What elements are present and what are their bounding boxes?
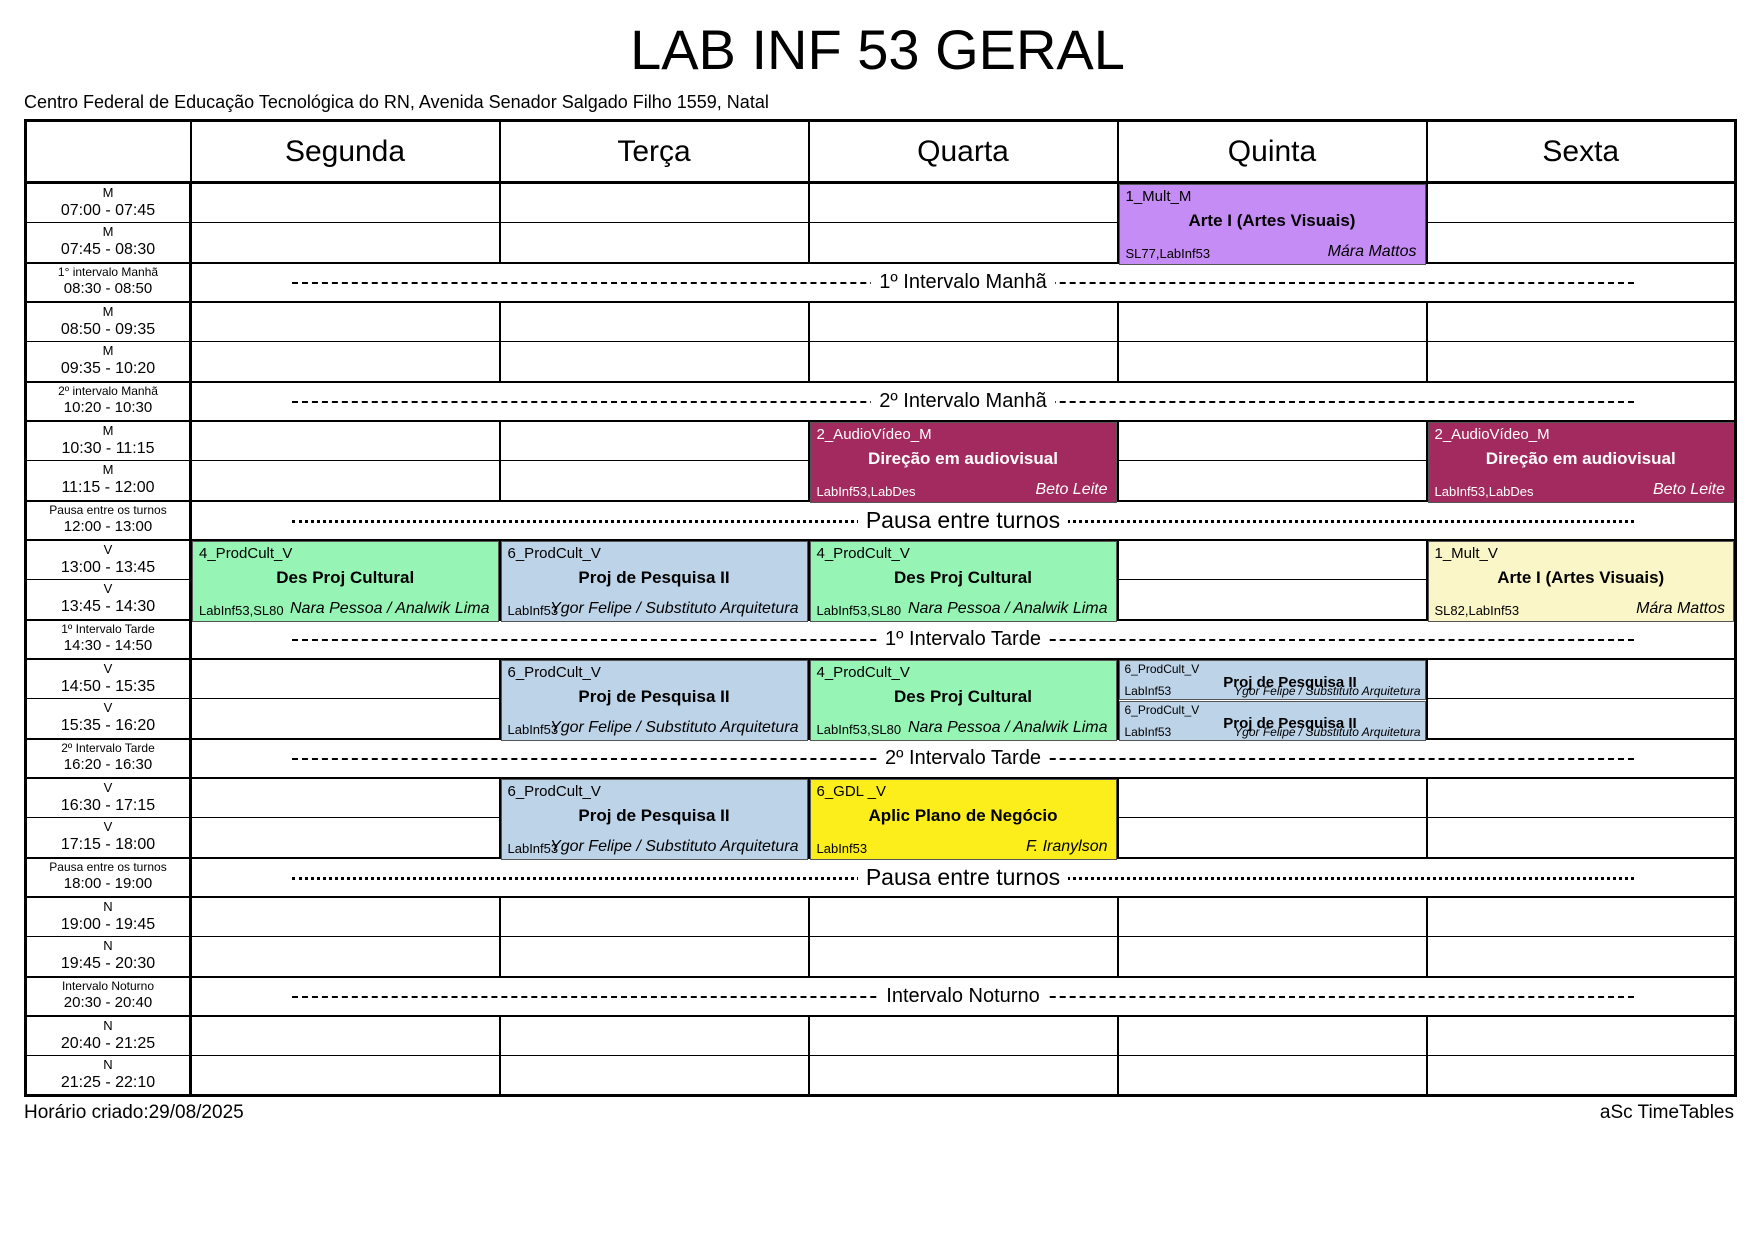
schedule-cell[interactable]	[1118, 937, 1427, 977]
time-range: 15:35 - 16:20	[27, 716, 189, 736]
time-range: 08:30 - 08:50	[27, 280, 189, 299]
page-title: LAB INF 53 GERAL	[0, 0, 1755, 78]
lesson-block[interactable]: 2_AudioVídeo_MDireção em audiovisualLabI…	[1428, 422, 1735, 503]
time-range: 16:30 - 17:15	[27, 796, 189, 816]
schedule-cell[interactable]	[1427, 659, 1736, 699]
break-row: Pausa entre os turnos12:00 - 13:00Pausa …	[26, 501, 1736, 540]
lesson-teacher: Mára Mattos	[1328, 243, 1417, 261]
lesson-block[interactable]: 1_Mult_MArte I (Artes Visuais)SL77,LabIn…	[1119, 184, 1426, 265]
time-label: V	[27, 661, 189, 677]
lesson-class-code: 2_AudioVídeo_M	[817, 426, 932, 443]
schedule-cell[interactable]	[1427, 1056, 1736, 1096]
time-range: 12:00 - 13:00	[27, 518, 189, 537]
lesson-subject: Arte I (Artes Visuais)	[1429, 568, 1734, 588]
lesson-class-code: 1_Mult_V	[1435, 545, 1498, 562]
time-cell: 1º Intervalo Tarde14:30 - 14:50	[26, 620, 191, 659]
lesson-class-code: 4_ProdCult_V	[817, 664, 910, 681]
break-row: Pausa entre os turnos18:00 - 19:00Pausa …	[26, 858, 1736, 897]
time-label: N	[27, 1018, 189, 1034]
schedule-cell[interactable]	[809, 183, 1118, 223]
timetable: Segunda Terça Quarta Quinta Sexta M07:00…	[24, 119, 1737, 1097]
timetable-body: M07:00 - 07:451_Mult_MArte I (Artes Visu…	[26, 183, 1736, 1096]
schedule-cell[interactable]	[1427, 183, 1736, 223]
schedule-cell[interactable]	[191, 183, 500, 223]
footer: Horário criado:29/08/2025 aSc TimeTables	[24, 1097, 1734, 1124]
schedule-cell[interactable]	[191, 1016, 500, 1056]
schedule-cell[interactable]: 2_AudioVídeo_MDireção em audiovisualLabI…	[809, 421, 1118, 461]
schedule-cell[interactable]	[809, 1016, 1118, 1056]
time-label: N	[27, 1057, 189, 1073]
schedule-cell[interactable]	[500, 223, 809, 263]
lesson-room: LabInf53,LabDes	[817, 484, 916, 499]
schedule-cell[interactable]	[809, 223, 1118, 263]
schedule-cell[interactable]	[809, 302, 1118, 342]
schedule-cell[interactable]	[1427, 1016, 1736, 1056]
time-label: Pausa entre os turnos	[27, 503, 189, 518]
lesson-teacher: Nara Pessoa / Analwik Lima	[908, 600, 1108, 618]
lesson-teacher: Beto Leite	[1035, 481, 1107, 499]
schedule-cell[interactable]	[1427, 778, 1736, 818]
schedule-cell[interactable]	[1427, 223, 1736, 263]
lesson-room: LabInf53	[1125, 725, 1172, 739]
break-label: 2º Intervalo Manhã	[871, 390, 1054, 413]
schedule-cell[interactable]	[1118, 580, 1427, 620]
schedule-cell[interactable]	[191, 223, 500, 263]
break-row: 2º Intervalo Tarde16:20 - 16:302º Interv…	[26, 739, 1736, 778]
timetable-row: M07:45 - 08:30	[26, 223, 1736, 263]
time-label: Intervalo Noturno	[27, 979, 189, 994]
schedule-cell[interactable]	[500, 421, 809, 461]
schedule-cell[interactable]	[1118, 897, 1427, 937]
time-range: 18:00 - 19:00	[27, 875, 189, 894]
time-label: V	[27, 542, 189, 558]
time-range: 20:30 - 20:40	[27, 994, 189, 1013]
lesson-class-code: 4_ProdCult_V	[817, 545, 910, 562]
lesson-room: SL77,LabInf53	[1126, 246, 1211, 261]
time-label: 1° intervalo Manhã	[27, 265, 189, 280]
schedule-cell[interactable]	[191, 818, 500, 858]
time-label: N	[27, 938, 189, 954]
lesson-block[interactable]: 4_ProdCult_VDes Proj CulturalLabInf53,SL…	[810, 541, 1117, 622]
time-label: 1º Intervalo Tarde	[27, 622, 189, 637]
time-label: 2º intervalo Manhã	[27, 384, 189, 399]
lesson-subject: Arte I (Artes Visuais)	[1120, 211, 1425, 231]
time-range: 14:30 - 14:50	[27, 637, 189, 656]
lesson-block[interactable]: 4_ProdCult_VDes Proj CulturalLabInf53,SL…	[810, 660, 1117, 741]
corner-cell	[26, 121, 191, 183]
lesson-subject: Proj de Pesquisa II	[502, 568, 807, 588]
time-range: 19:45 - 20:30	[27, 954, 189, 974]
lesson-subject: Aplic Plano de Negócio	[811, 806, 1116, 826]
break-label: 2º Intervalo Tarde	[877, 747, 1049, 770]
lesson-room: LabInf53,SL80	[817, 603, 902, 618]
brand-label: aSc TimeTables	[1600, 1102, 1734, 1124]
time-cell: V16:30 - 17:15	[26, 778, 191, 818]
time-label: M	[27, 423, 189, 439]
time-cell: 2º intervalo Manhã10:20 - 10:30	[26, 382, 191, 421]
time-cell: Pausa entre os turnos18:00 - 19:00	[26, 858, 191, 897]
day-header-terca: Terça	[500, 121, 809, 183]
lesson-class-code: 4_ProdCult_V	[199, 545, 292, 562]
break-label: Intervalo Noturno	[878, 985, 1047, 1008]
schedule-cell[interactable]	[809, 937, 1118, 977]
break-banner: 2º Intervalo Tarde	[191, 739, 1736, 778]
schedule-cell[interactable]	[1118, 342, 1427, 382]
time-cell: V15:35 - 16:20	[26, 699, 191, 739]
lesson-teacher: Ygor Felipe / Substituto Arquitetura	[550, 838, 798, 856]
schedule-cell[interactable]	[191, 778, 500, 818]
schedule-cell[interactable]	[1118, 1056, 1427, 1096]
lesson-room: LabInf53	[1125, 684, 1172, 698]
time-range: 19:00 - 19:45	[27, 915, 189, 935]
time-label: V	[27, 780, 189, 796]
schedule-cell[interactable]	[1427, 818, 1736, 858]
schedule-cell[interactable]	[191, 937, 500, 977]
time-cell: V13:45 - 14:30	[26, 580, 191, 620]
lesson-room: LabInf53,SL80	[199, 603, 284, 618]
time-range: 14:50 - 15:35	[27, 677, 189, 697]
lesson-teacher: Mára Mattos	[1636, 600, 1725, 618]
time-cell: V14:50 - 15:35	[26, 659, 191, 699]
break-banner: Intervalo Noturno	[191, 977, 1736, 1016]
time-label: V	[27, 581, 189, 597]
lesson-teacher: Nara Pessoa / Analwik Lima	[290, 600, 490, 618]
schedule-cell[interactable]	[1427, 342, 1736, 382]
timetable-row: N20:40 - 21:25	[26, 1016, 1736, 1056]
schedule-cell[interactable]	[191, 421, 500, 461]
schedule-cell[interactable]	[1118, 818, 1427, 858]
schedule-cell[interactable]: 6_GDL _VAplic Plano de NegócioLabInf53F.…	[809, 778, 1118, 818]
time-label: V	[27, 700, 189, 716]
time-label: M	[27, 304, 189, 320]
time-cell: N21:25 - 22:10	[26, 1056, 191, 1096]
break-banner: 1º Intervalo Tarde	[191, 620, 1736, 659]
time-cell: N19:00 - 19:45	[26, 897, 191, 937]
time-label: M	[27, 343, 189, 359]
schedule-cell[interactable]	[1427, 699, 1736, 739]
time-cell: M11:15 - 12:00	[26, 461, 191, 501]
schedule-cell[interactable]	[809, 897, 1118, 937]
lesson-block[interactable]: 6_ProdCult_VProj de Pesquisa IILabInf53Y…	[1119, 701, 1426, 741]
day-header-sexta: Sexta	[1427, 121, 1736, 183]
schedule-cell[interactable]	[191, 302, 500, 342]
time-label: 2º Intervalo Tarde	[27, 741, 189, 756]
time-range: 07:45 - 08:30	[27, 240, 189, 260]
lesson-block[interactable]: 2_AudioVídeo_MDireção em audiovisualLabI…	[810, 422, 1117, 503]
time-label: N	[27, 899, 189, 915]
lesson-teacher: Ygor Felipe / Substituto Arquitetura	[550, 719, 798, 737]
time-range: 11:15 - 12:00	[27, 478, 189, 498]
time-cell: M10:30 - 11:15	[26, 421, 191, 461]
day-header-segunda: Segunda	[191, 121, 500, 183]
time-cell: M07:00 - 07:45	[26, 183, 191, 223]
schedule-cell[interactable]	[500, 461, 809, 501]
break-banner: Pausa entre turnos	[191, 858, 1736, 897]
break-row: 1º Intervalo Tarde14:30 - 14:501º Interv…	[26, 620, 1736, 659]
break-row: 2º intervalo Manhã10:20 - 10:302º Interv…	[26, 382, 1736, 421]
schedule-cell[interactable]	[191, 897, 500, 937]
timetable-row: M10:30 - 11:152_AudioVídeo_MDireção em a…	[26, 421, 1736, 461]
schedule-cell[interactable]: 1_Mult_VArte I (Artes Visuais)SL82,LabIn…	[1427, 540, 1736, 580]
schedule-cell[interactable]: 6_ProdCult_VProj de Pesquisa IILabInf53Y…	[1118, 659, 1427, 699]
time-cell: 2º Intervalo Tarde16:20 - 16:30	[26, 739, 191, 778]
time-label: M	[27, 224, 189, 240]
time-range: 13:45 - 14:30	[27, 597, 189, 617]
schedule-cell[interactable]	[1427, 302, 1736, 342]
time-range: 08:50 - 09:35	[27, 320, 189, 340]
break-banner: 2º Intervalo Manhã	[191, 382, 1736, 421]
time-cell: M08:50 - 09:35	[26, 302, 191, 342]
lesson-class-code: 1_Mult_M	[1126, 188, 1192, 205]
time-label: V	[27, 819, 189, 835]
schedule-cell[interactable]	[1118, 302, 1427, 342]
time-cell: 1° intervalo Manhã08:30 - 08:50	[26, 263, 191, 302]
schedule-cell[interactable]	[809, 342, 1118, 382]
time-cell: Intervalo Noturno20:30 - 20:40	[26, 977, 191, 1016]
lesson-room: LabInf53	[817, 841, 868, 856]
lesson-subject: Proj de Pesquisa II	[502, 806, 807, 826]
schedule-cell[interactable]: 4_ProdCult_VDes Proj CulturalLabInf53,SL…	[809, 659, 1118, 699]
break-row: 1° intervalo Manhã08:30 - 08:501º Interv…	[26, 263, 1736, 302]
lesson-subject: Des Proj Cultural	[193, 568, 498, 588]
time-range: 20:40 - 21:25	[27, 1034, 189, 1054]
schedule-cell[interactable]: 2_AudioVídeo_MDireção em audiovisualLabI…	[1427, 421, 1736, 461]
schedule-cell[interactable]	[500, 342, 809, 382]
schedule-cell[interactable]	[1427, 937, 1736, 977]
schedule-cell[interactable]: 6_ProdCult_VProj de Pesquisa IILabInf53Y…	[500, 659, 809, 699]
lesson-block[interactable]: 6_ProdCult_VProj de Pesquisa IILabInf53Y…	[501, 660, 808, 741]
timetable-row: V14:50 - 15:356_ProdCult_VProj de Pesqui…	[26, 659, 1736, 699]
lesson-subject: Des Proj Cultural	[811, 687, 1116, 707]
schedule-cell[interactable]	[191, 461, 500, 501]
schedule-cell[interactable]	[1118, 1016, 1427, 1056]
lesson-teacher: Ygor Felipe / Substituto Arquitetura	[1234, 725, 1420, 739]
schedule-cell[interactable]	[1118, 421, 1427, 461]
timetable-row: M09:35 - 10:20	[26, 342, 1736, 382]
day-header-quinta: Quinta	[1118, 121, 1427, 183]
lesson-block[interactable]: 6_GDL _VAplic Plano de NegócioLabInf53F.…	[810, 779, 1117, 860]
schedule-cell[interactable]	[1118, 540, 1427, 580]
break-banner: Pausa entre turnos	[191, 501, 1736, 540]
time-range: 13:00 - 13:45	[27, 558, 189, 578]
time-range: 10:20 - 10:30	[27, 399, 189, 418]
lesson-subject: Direção em audiovisual	[811, 449, 1116, 469]
schedule-cell[interactable]	[500, 937, 809, 977]
timetable-row: M07:00 - 07:451_Mult_MArte I (Artes Visu…	[26, 183, 1736, 223]
lesson-teacher: Ygor Felipe / Substituto Arquitetura	[550, 600, 798, 618]
time-label: M	[27, 185, 189, 201]
schedule-cell[interactable]: 6_ProdCult_VProj de Pesquisa IILabInf53Y…	[500, 778, 809, 818]
day-header-row: Segunda Terça Quarta Quinta Sexta	[26, 121, 1736, 183]
time-cell: V13:00 - 13:45	[26, 540, 191, 580]
institution-subtitle: Centro Federal de Educação Tecnológica d…	[0, 78, 1755, 119]
schedule-cell[interactable]	[191, 342, 500, 382]
lesson-class-code: 6_ProdCult_V	[508, 664, 601, 681]
lesson-class-code: 6_GDL _V	[817, 783, 887, 800]
lesson-room: LabInf53,LabDes	[1435, 484, 1534, 499]
break-banner: 1º Intervalo Manhã	[191, 263, 1736, 302]
lesson-teacher: F. Iranylson	[1026, 838, 1108, 856]
schedule-cell[interactable]	[500, 1016, 809, 1056]
schedule-cell[interactable]	[500, 1056, 809, 1096]
schedule-cell[interactable]: 1_Mult_MArte I (Artes Visuais)SL77,LabIn…	[1118, 183, 1427, 223]
break-label: Pausa entre turnos	[858, 864, 1068, 891]
time-cell: N20:40 - 21:25	[26, 1016, 191, 1056]
day-header-quarta: Quarta	[809, 121, 1118, 183]
schedule-cell[interactable]	[1427, 897, 1736, 937]
schedule-cell[interactable]: 6_ProdCult_VProj de Pesquisa IILabInf53Y…	[500, 540, 809, 580]
schedule-cell[interactable]	[191, 699, 500, 739]
lesson-teacher: Ygor Felipe / Substituto Arquitetura	[1234, 684, 1420, 698]
lesson-class-code: 6_ProdCult_V	[508, 783, 601, 800]
timetable-row: V16:30 - 17:156_ProdCult_VProj de Pesqui…	[26, 778, 1736, 818]
time-cell: M09:35 - 10:20	[26, 342, 191, 382]
lesson-subject: Proj de Pesquisa II	[502, 687, 807, 707]
break-label: 1º Intervalo Manhã	[871, 271, 1054, 294]
timetable-page: LAB INF 53 GERAL Centro Federal de Educa…	[0, 0, 1755, 1241]
schedule-cell[interactable]	[500, 302, 809, 342]
schedule-cell[interactable]	[191, 1056, 500, 1096]
lesson-subject: Direção em audiovisual	[1429, 449, 1734, 469]
lesson-teacher: Nara Pessoa / Analwik Lima	[908, 719, 1108, 737]
lesson-room: SL82,LabInf53	[1435, 603, 1520, 618]
break-row: Intervalo Noturno20:30 - 20:40Intervalo …	[26, 977, 1736, 1016]
time-range: 16:20 - 16:30	[27, 756, 189, 775]
time-range: 10:30 - 11:15	[27, 439, 189, 459]
lesson-block[interactable]: 6_ProdCult_VProj de Pesquisa IILabInf53Y…	[1119, 660, 1426, 700]
break-label: 1º Intervalo Tarde	[877, 628, 1049, 651]
lesson-block[interactable]: 1_Mult_VArte I (Artes Visuais)SL82,LabIn…	[1428, 541, 1735, 622]
time-range: 07:00 - 07:45	[27, 201, 189, 221]
break-label: Pausa entre turnos	[858, 507, 1068, 534]
lesson-class-code: 6_ProdCult_V	[508, 545, 601, 562]
created-date: Horário criado:29/08/2025	[24, 1102, 244, 1124]
time-cell: N19:45 - 20:30	[26, 937, 191, 977]
time-cell: M07:45 - 08:30	[26, 223, 191, 263]
lesson-block[interactable]: 6_ProdCult_VProj de Pesquisa IILabInf53Y…	[501, 541, 808, 622]
lesson-teacher: Beto Leite	[1653, 481, 1725, 499]
time-label: Pausa entre os turnos	[27, 860, 189, 875]
lesson-class-code: 2_AudioVídeo_M	[1435, 426, 1550, 443]
schedule-cell[interactable]: 4_ProdCult_VDes Proj CulturalLabInf53,SL…	[809, 540, 1118, 580]
timetable-row: N19:00 - 19:45	[26, 897, 1736, 937]
schedule-cell[interactable]	[500, 183, 809, 223]
timetable-row: M08:50 - 09:35	[26, 302, 1736, 342]
schedule-cell[interactable]	[500, 897, 809, 937]
time-cell: Pausa entre os turnos12:00 - 13:00	[26, 501, 191, 540]
lesson-room: LabInf53,SL80	[817, 722, 902, 737]
schedule-cell[interactable]	[191, 659, 500, 699]
lesson-block[interactable]: 6_ProdCult_VProj de Pesquisa IILabInf53Y…	[501, 779, 808, 860]
time-range: 21:25 - 22:10	[27, 1073, 189, 1093]
schedule-cell[interactable]	[809, 1056, 1118, 1096]
time-cell: V17:15 - 18:00	[26, 818, 191, 858]
timetable-row: N21:25 - 22:10	[26, 1056, 1736, 1096]
lesson-subject: Des Proj Cultural	[811, 568, 1116, 588]
timetable-row: N19:45 - 20:30	[26, 937, 1736, 977]
time-range: 09:35 - 10:20	[27, 359, 189, 379]
schedule-cell[interactable]	[1118, 461, 1427, 501]
time-label: M	[27, 462, 189, 478]
lesson-block[interactable]: 4_ProdCult_VDes Proj CulturalLabInf53,SL…	[192, 541, 499, 622]
schedule-cell[interactable]	[1118, 778, 1427, 818]
timetable-row: V13:00 - 13:454_ProdCult_VDes Proj Cultu…	[26, 540, 1736, 580]
schedule-cell[interactable]: 4_ProdCult_VDes Proj CulturalLabInf53,SL…	[191, 540, 500, 580]
time-range: 17:15 - 18:00	[27, 835, 189, 855]
